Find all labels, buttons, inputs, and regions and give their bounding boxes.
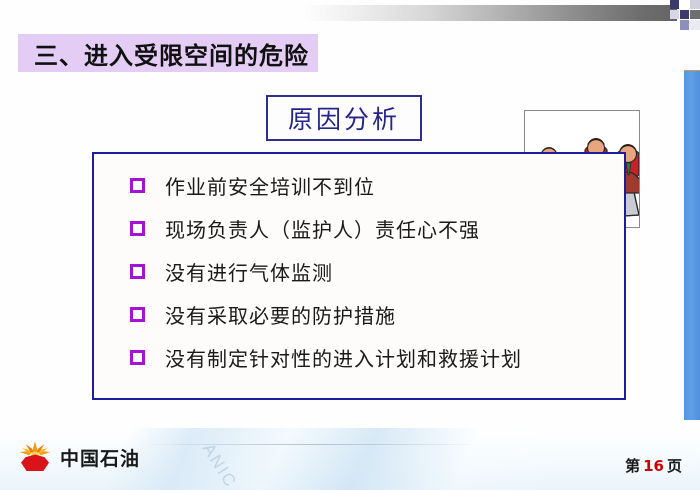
checker-square [670,10,679,19]
page-indicator: 第16页 [625,455,682,476]
section-title-text: 三、进入受限空间的危险 [34,36,309,71]
list-item: 现场负责人（监护人）责任心不强 [130,207,620,250]
footer-watermark-text: ANIC [198,440,241,490]
corner-checker-decoration [656,0,700,30]
list-item-label: 没有制定针对性的进入计划和救援计划 [165,343,522,372]
brand-lockup: 中国石油 [18,440,140,474]
cause-analysis-heading-box: 原因分析 [266,95,422,141]
slide-canvas: 三、进入受限空间的危险 原因分析 [0,0,700,490]
square-bullet-icon [130,178,145,193]
list-item: 没有进行气体监测 [130,250,620,293]
page-number: 16 [643,457,664,475]
list-item-label: 没有采取必要的防护措施 [165,300,396,329]
checker-square [670,0,679,9]
section-title-banner: 三、进入受限空间的危险 [18,34,318,72]
page-suffix-label: 页 [667,457,682,475]
cause-bullet-panel: 作业前安全培训不到位 现场负责人（监护人）责任心不强 没有进行气体监测 没有采取… [92,152,626,400]
cause-bullet-list: 作业前安全培训不到位 现场负责人（监护人）责任心不强 没有进行气体监测 没有采取… [130,164,620,379]
list-item: 没有采取必要的防护措施 [130,293,620,336]
checker-square [680,20,689,30]
checker-square [690,0,700,9]
square-bullet-icon [130,264,145,279]
list-item: 作业前安全培训不到位 [130,164,620,207]
footer-divider [150,444,470,445]
page-prefix-label: 第 [625,457,640,475]
list-item-label: 没有进行气体监测 [165,257,333,286]
list-item: 没有制定针对性的进入计划和救援计划 [130,336,620,379]
petrochina-sunburst-logo-icon [18,440,52,474]
top-gradient-bar [305,5,677,21]
square-bullet-icon [130,350,145,365]
right-accent-bar [684,70,700,420]
square-bullet-icon [130,307,145,322]
checker-square [680,10,689,19]
brand-name-label: 中国石油 [60,444,140,471]
checker-square [680,0,689,9]
list-item-label: 现场负责人（监护人）责任心不强 [165,214,480,243]
checker-square [690,20,700,30]
list-item-label: 作业前安全培训不到位 [165,171,375,200]
cause-analysis-label: 原因分析 [288,100,400,136]
checker-square [690,10,700,19]
square-bullet-icon [130,221,145,236]
